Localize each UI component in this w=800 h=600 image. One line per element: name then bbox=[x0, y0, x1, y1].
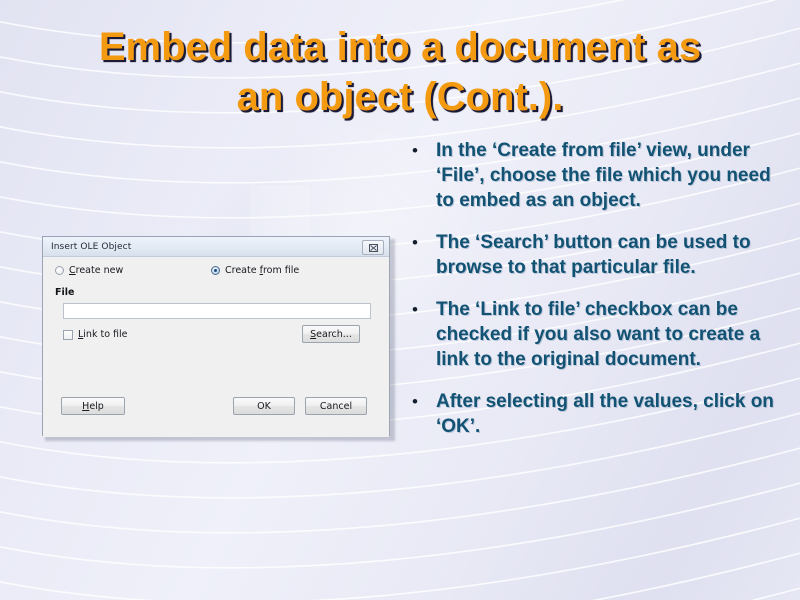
bullet-text: After selecting all the values, click on… bbox=[436, 389, 788, 439]
bullet-list: • In the ‘Create from file’ view, under … bbox=[406, 138, 788, 456]
radio-create-new-label: Create new bbox=[69, 265, 123, 276]
bullet-marker-icon: • bbox=[406, 230, 436, 255]
cancel-button[interactable]: Cancel bbox=[305, 397, 367, 415]
bullet-item: • In the ‘Create from file’ view, under … bbox=[406, 138, 788, 213]
slide-title-line-1: Embed data into a document as bbox=[30, 22, 770, 72]
radio-dot-selected-icon bbox=[211, 266, 220, 275]
search-button[interactable]: Search... bbox=[302, 325, 360, 343]
radio-dot-icon bbox=[55, 266, 64, 275]
bullet-marker-icon: • bbox=[406, 389, 436, 414]
bullet-text: In the ‘Create from file’ view, under ‘F… bbox=[436, 138, 788, 213]
search-button-label: Search... bbox=[310, 329, 352, 340]
link-to-file-checkbox[interactable]: Link to file bbox=[63, 329, 128, 340]
help-button-label: Help bbox=[82, 401, 104, 412]
dialog-body: Create new Create from file File Link to… bbox=[43, 257, 389, 437]
bullet-marker-icon: • bbox=[406, 297, 436, 322]
radio-create-from-file[interactable]: Create from file bbox=[211, 265, 299, 276]
file-group-label: File bbox=[55, 287, 74, 298]
bullet-item: • After selecting all the values, click … bbox=[406, 389, 788, 439]
close-icon[interactable] bbox=[362, 240, 384, 255]
bullet-text: The ‘Link to file’ checkbox can be check… bbox=[436, 297, 788, 372]
ok-button[interactable]: OK bbox=[233, 397, 295, 415]
creation-mode-radio-group: Create new Create from file bbox=[43, 265, 389, 281]
bullet-item: • The ‘Search’ button can be used to bro… bbox=[406, 230, 788, 280]
dialog-titlebar[interactable]: Insert OLE Object bbox=[43, 237, 389, 257]
bullet-marker-icon: • bbox=[406, 138, 436, 163]
bullet-text: The ‘Search’ button can be used to brows… bbox=[436, 230, 788, 280]
slide-canvas: Embed data into a document as an object … bbox=[0, 0, 800, 600]
dialog-title: Insert OLE Object bbox=[43, 242, 131, 252]
bullet-item: • The ‘Link to file’ checkbox can be che… bbox=[406, 297, 788, 372]
slide-title-line-2: an object (Cont.). bbox=[30, 72, 770, 122]
close-glyph bbox=[369, 244, 378, 252]
link-to-file-label: Link to file bbox=[78, 329, 128, 340]
help-button[interactable]: Help bbox=[61, 397, 125, 415]
radio-create-from-file-label: Create from file bbox=[225, 265, 299, 276]
slide-title: Embed data into a document as an object … bbox=[30, 22, 770, 122]
insert-ole-object-dialog: Insert OLE Object Create new Create from… bbox=[42, 236, 390, 436]
checkbox-icon bbox=[63, 330, 73, 340]
radio-create-new[interactable]: Create new bbox=[55, 265, 123, 276]
file-path-input[interactable] bbox=[63, 303, 371, 319]
